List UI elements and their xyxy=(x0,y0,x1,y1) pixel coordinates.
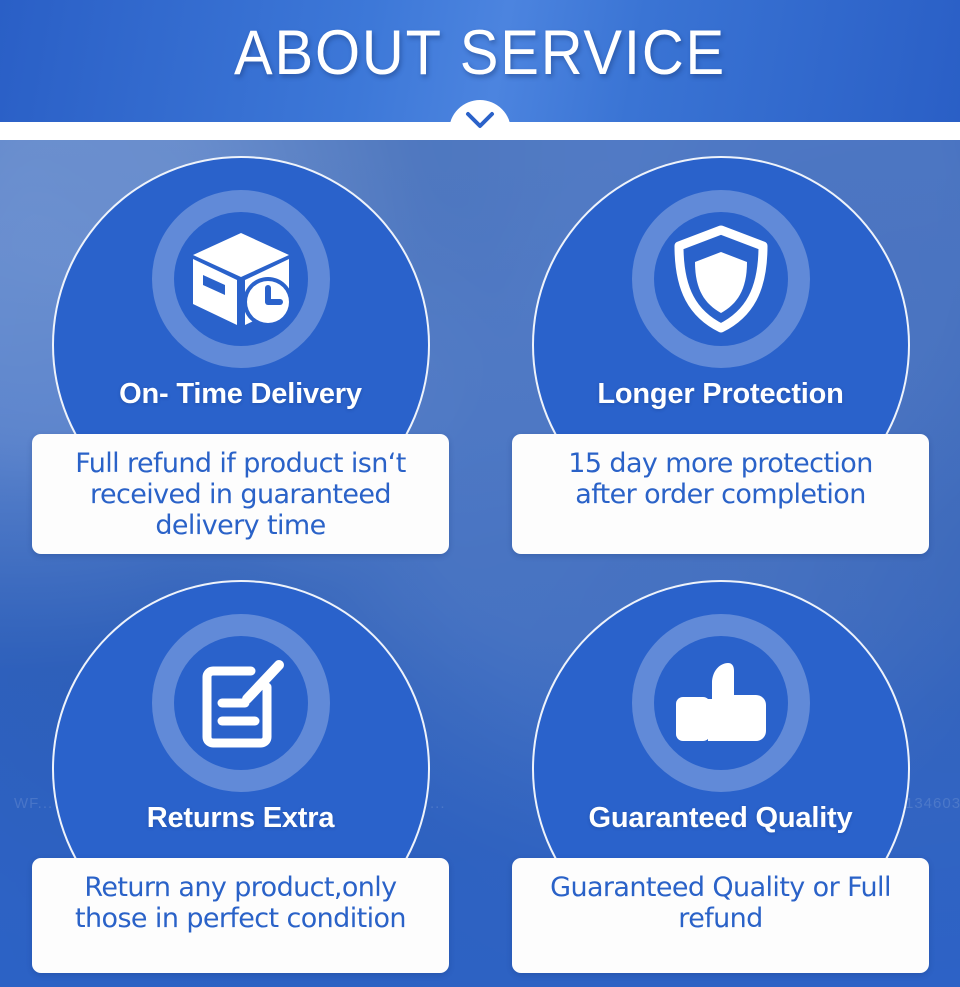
cards-stage: WF... ... 134603 xyxy=(0,140,960,987)
thumbs-up-icon xyxy=(660,642,782,764)
card-description: Return any product,only those in perfect… xyxy=(75,872,406,934)
card-description: Guaranteed Quality or Full refund xyxy=(550,872,891,934)
card-title: Guaranteed Quality xyxy=(498,802,943,835)
card-description-panel: Return any product,only those in perfect… xyxy=(32,858,449,973)
package-clock-icon xyxy=(180,218,302,340)
chevron-down-icon xyxy=(465,110,495,132)
card-description-panel: Full refund if product isn‘t received in… xyxy=(32,434,449,554)
about-service-banner: ABOUT SERVICE WF... ... 134603 xyxy=(0,0,960,987)
card-title: Returns Extra xyxy=(18,802,463,835)
shield-icon xyxy=(660,218,782,340)
page-title: ABOUT SERVICE xyxy=(38,16,921,90)
card-description-panel: Guaranteed Quality or Full refund xyxy=(512,858,929,973)
card-description: Full refund if product isn‘t received in… xyxy=(75,448,405,541)
card-description-panel: 15 day more protection after order compl… xyxy=(512,434,929,554)
document-edit-icon xyxy=(180,642,302,764)
service-card-grid: On- Time Delivery Full refund if product… xyxy=(0,140,960,987)
card-description: 15 day more protection after order compl… xyxy=(568,448,872,510)
card-title: Longer Protection xyxy=(498,378,943,411)
card-title: On- Time Delivery xyxy=(18,378,463,411)
